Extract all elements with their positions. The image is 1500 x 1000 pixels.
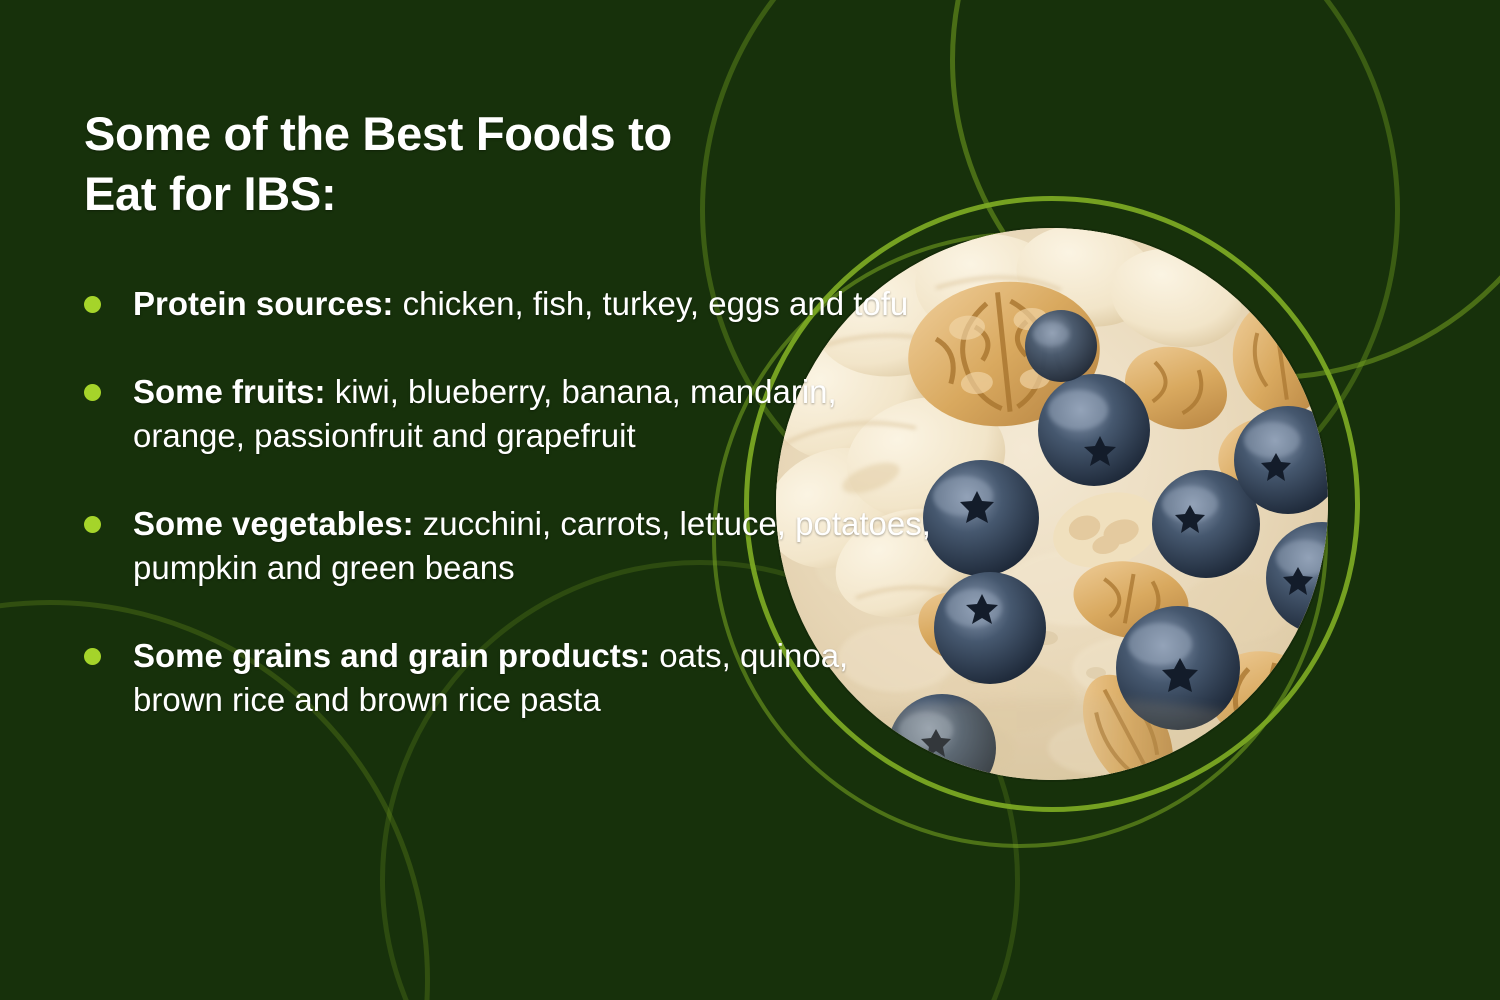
bullet-dot-icon [84, 516, 101, 533]
infographic-canvas: Some of the Best Foods to Eat for IBS: P… [0, 0, 1500, 1000]
list-item-text: Protein sources: chicken, fish, turkey, … [133, 282, 908, 326]
list-item-label: Some fruits: [133, 373, 326, 410]
list-item: Some grains and grain products: oats, qu… [84, 634, 964, 722]
bullet-dot-icon [84, 648, 101, 665]
content-column: Some of the Best Foods to Eat for IBS: P… [84, 104, 964, 721]
bullet-dot-icon [84, 384, 101, 401]
list-item: Some vegetables: zucchini, carrots, lett… [84, 502, 964, 590]
list-item: Some fruits: kiwi, blueberry, banana, ma… [84, 370, 964, 458]
list-item-text: Some fruits: kiwi, blueberry, banana, ma… [133, 370, 943, 458]
list-item-text: Some grains and grain products: oats, qu… [133, 634, 943, 722]
food-list: Protein sources: chicken, fish, turkey, … [84, 282, 964, 721]
bullet-dot-icon [84, 296, 101, 313]
list-item-label: Some vegetables: [133, 505, 414, 542]
list-item-body: chicken, fish, turkey, eggs and tofu [393, 285, 908, 322]
list-item-text: Some vegetables: zucchini, carrots, lett… [133, 502, 943, 590]
page-title: Some of the Best Foods to Eat for IBS: [84, 104, 964, 224]
list-item-label: Protein sources: [133, 285, 393, 322]
list-item: Protein sources: chicken, fish, turkey, … [84, 282, 964, 326]
list-item-label: Some grains and grain products: [133, 637, 650, 674]
